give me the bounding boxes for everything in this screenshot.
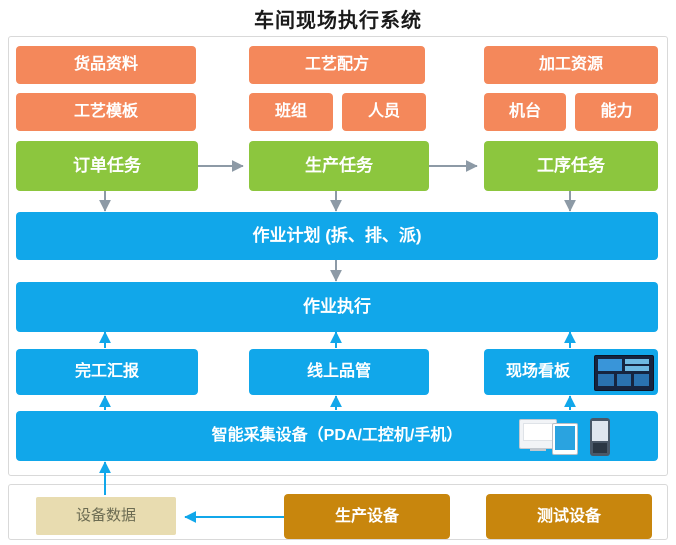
pda-handheld-icon — [590, 418, 610, 456]
dashboard-screen-icon — [594, 355, 654, 391]
card-label: 作业执行 — [303, 297, 371, 317]
page-title: 车间现场执行系统 — [0, 4, 676, 33]
card-label: 货品资料 — [74, 55, 138, 74]
card-work-plan[interactable]: 作业计划 (拆、排、派) — [16, 212, 658, 260]
card-label: 完工汇报 — [75, 362, 139, 381]
card-label: 线上品管 — [307, 362, 371, 381]
card-label: 现场看板 — [506, 362, 570, 381]
card-goods-data[interactable]: 货品资料 — [16, 46, 196, 84]
diagram-canvas: 车间现场执行系统 — [0, 0, 676, 545]
card-label: 班组 — [275, 102, 307, 121]
card-label: 测试设备 — [537, 507, 601, 526]
card-label: 人员 — [368, 102, 400, 121]
card-label: 生产任务 — [305, 156, 373, 176]
card-label: 工序任务 — [537, 156, 605, 176]
card-operation-task[interactable]: 工序任务 — [484, 141, 658, 191]
card-team[interactable]: 班组 — [249, 93, 333, 131]
card-label: 设备数据 — [76, 507, 136, 525]
card-production-task[interactable]: 生产任务 — [249, 141, 429, 191]
card-label: 机台 — [509, 102, 541, 121]
card-test-equipment[interactable]: 测试设备 — [486, 494, 652, 539]
card-label: 工艺模板 — [74, 102, 138, 121]
card-label: 生产设备 — [335, 507, 399, 526]
card-label: 工艺配方 — [305, 55, 369, 74]
card-work-execution[interactable]: 作业执行 — [16, 282, 658, 332]
card-label: 作业计划 (拆、排、派) — [252, 226, 421, 246]
card-production-equipment[interactable]: 生产设备 — [284, 494, 450, 539]
card-capacity[interactable]: 能力 — [575, 93, 658, 131]
card-processing-resource[interactable]: 加工资源 — [484, 46, 658, 84]
card-label: 智能采集设备（PDA/工控机/手机） — [212, 426, 463, 445]
card-label: 能力 — [600, 102, 632, 121]
card-label: 加工资源 — [539, 55, 603, 74]
card-completion-report[interactable]: 完工汇报 — [16, 349, 198, 395]
card-order-task[interactable]: 订单任务 — [16, 141, 198, 191]
card-online-qc[interactable]: 线上品管 — [249, 349, 429, 395]
card-process-recipe[interactable]: 工艺配方 — [249, 46, 425, 84]
card-label: 订单任务 — [73, 156, 141, 176]
card-process-template[interactable]: 工艺模板 — [16, 93, 196, 131]
card-machine[interactable]: 机台 — [484, 93, 566, 131]
card-personnel[interactable]: 人员 — [342, 93, 426, 131]
card-device-data[interactable]: 设备数据 — [36, 497, 176, 535]
tablet-device-icon — [552, 423, 578, 455]
